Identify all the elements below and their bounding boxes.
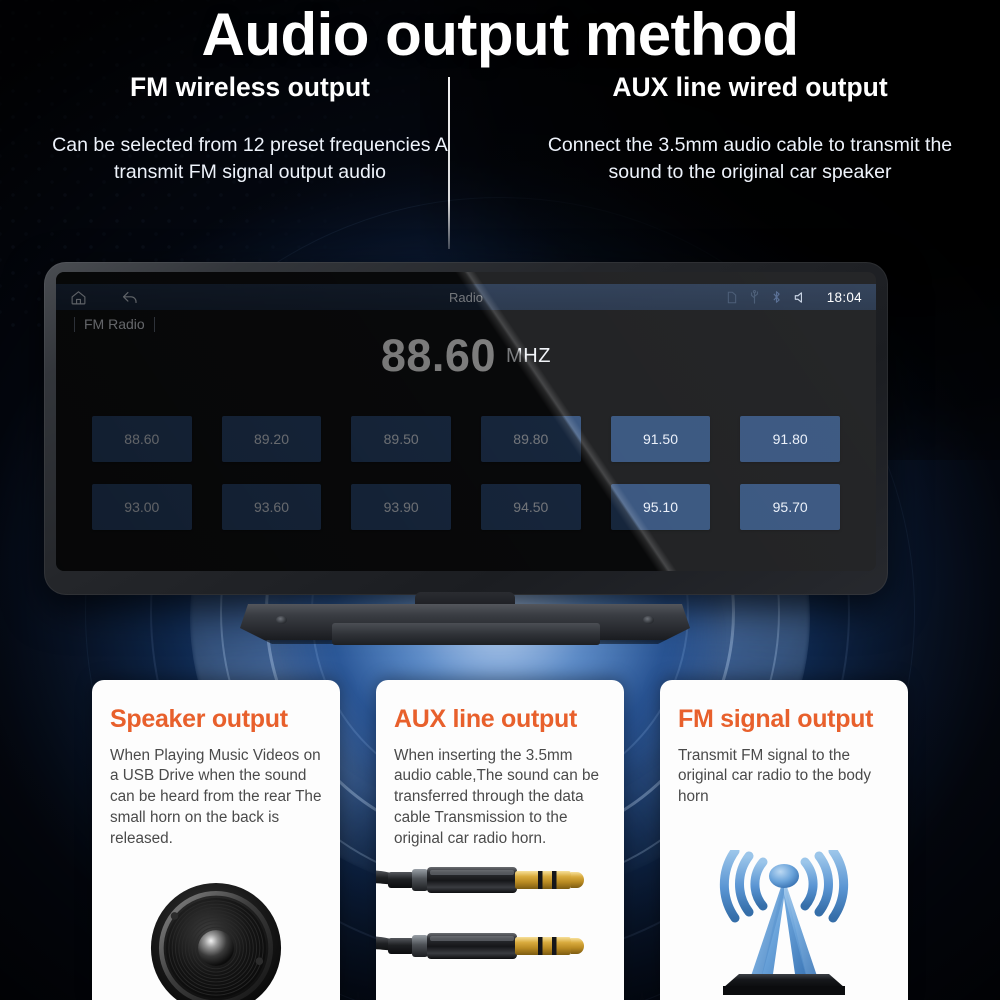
header-column-aux: AUX line wired output Connect the 3.5mm … — [500, 72, 1000, 186]
status-bar-time: 18:04 — [827, 290, 862, 305]
card-title: AUX line output — [394, 706, 606, 734]
aux-cable-icon — [376, 856, 620, 996]
status-bar-nav — [70, 289, 139, 306]
status-bar: Radio — [56, 284, 876, 310]
preset-button[interactable]: 93.90 — [351, 484, 451, 530]
preset-button[interactable]: 89.80 — [481, 416, 581, 462]
preset-button[interactable]: 91.80 — [740, 416, 840, 462]
status-bar-icons: 18:04 — [727, 290, 862, 305]
header-divider — [448, 77, 450, 249]
frequency-unit: MHZ — [506, 345, 551, 367]
preset-button[interactable]: 91.50 — [611, 416, 711, 462]
device-screen[interactable]: Radio — [56, 272, 876, 571]
page-title: Audio output method — [0, 0, 1000, 66]
usb-icon — [750, 290, 759, 304]
header-column-fm-body: Can be selected from 12 preset frequenci… — [22, 132, 478, 185]
card-body: Transmit FM signal to the original car r… — [678, 746, 890, 808]
home-icon[interactable] — [70, 289, 87, 306]
card-art — [376, 850, 624, 1000]
preset-button[interactable]: 93.60 — [222, 484, 322, 530]
card-aux-line-output: AUX line output When inserting the 3.5mm… — [376, 680, 624, 1000]
bracket-bar — [332, 623, 600, 645]
preset-button[interactable]: 95.70 — [740, 484, 840, 530]
bracket-screw-right — [643, 616, 654, 624]
bracket-screw-left — [276, 616, 287, 624]
preset-button[interactable]: 89.50 — [351, 416, 451, 462]
bluetooth-icon — [772, 290, 781, 304]
volume-icon — [794, 291, 808, 304]
card-body: When inserting the 3.5mm audio cable,The… — [394, 746, 606, 850]
card-fm-signal-output: FM signal output Transmit FM signal to t… — [660, 680, 908, 1000]
sd-card-icon — [727, 291, 737, 304]
header-column-fm-title: FM wireless output — [22, 72, 478, 102]
back-arrow-icon[interactable] — [121, 289, 139, 306]
card-title: Speaker output — [110, 706, 322, 734]
preset-button[interactable]: 88.60 — [92, 416, 192, 462]
current-frequency: 88.60MHZ — [56, 330, 876, 382]
preset-grid: 88.6089.2089.5089.8091.5091.8093.0093.60… — [92, 416, 840, 530]
card-art — [660, 850, 908, 1000]
header: Audio output method FM wireless output C… — [0, 0, 1000, 186]
preset-button[interactable]: 93.00 — [92, 484, 192, 530]
header-column-fm: FM wireless output Can be selected from … — [0, 72, 500, 186]
speaker-driver-icon — [150, 882, 282, 1000]
device-mount-bracket — [240, 604, 690, 652]
card-body: When Playing Music Videos on a USB Drive… — [110, 746, 322, 850]
car-stereo-device: Radio — [44, 262, 924, 642]
card-art — [92, 850, 340, 1000]
header-column-aux-title: AUX line wired output — [522, 72, 978, 102]
preset-button[interactable]: 94.50 — [481, 484, 581, 530]
fm-tower-icon — [699, 850, 869, 998]
preset-button[interactable]: 95.10 — [611, 484, 711, 530]
card-title: FM signal output — [678, 706, 890, 734]
header-column-aux-body: Connect the 3.5mm audio cable to transmi… — [522, 132, 978, 185]
frequency-value: 88.60 — [381, 330, 496, 381]
card-speaker-output: Speaker output When Playing Music Videos… — [92, 680, 340, 1000]
device-bezel: Radio — [44, 262, 888, 595]
feature-cards: Speaker output When Playing Music Videos… — [0, 680, 1000, 1000]
preset-button[interactable]: 89.20 — [222, 416, 322, 462]
header-columns: FM wireless output Can be selected from … — [0, 72, 1000, 186]
